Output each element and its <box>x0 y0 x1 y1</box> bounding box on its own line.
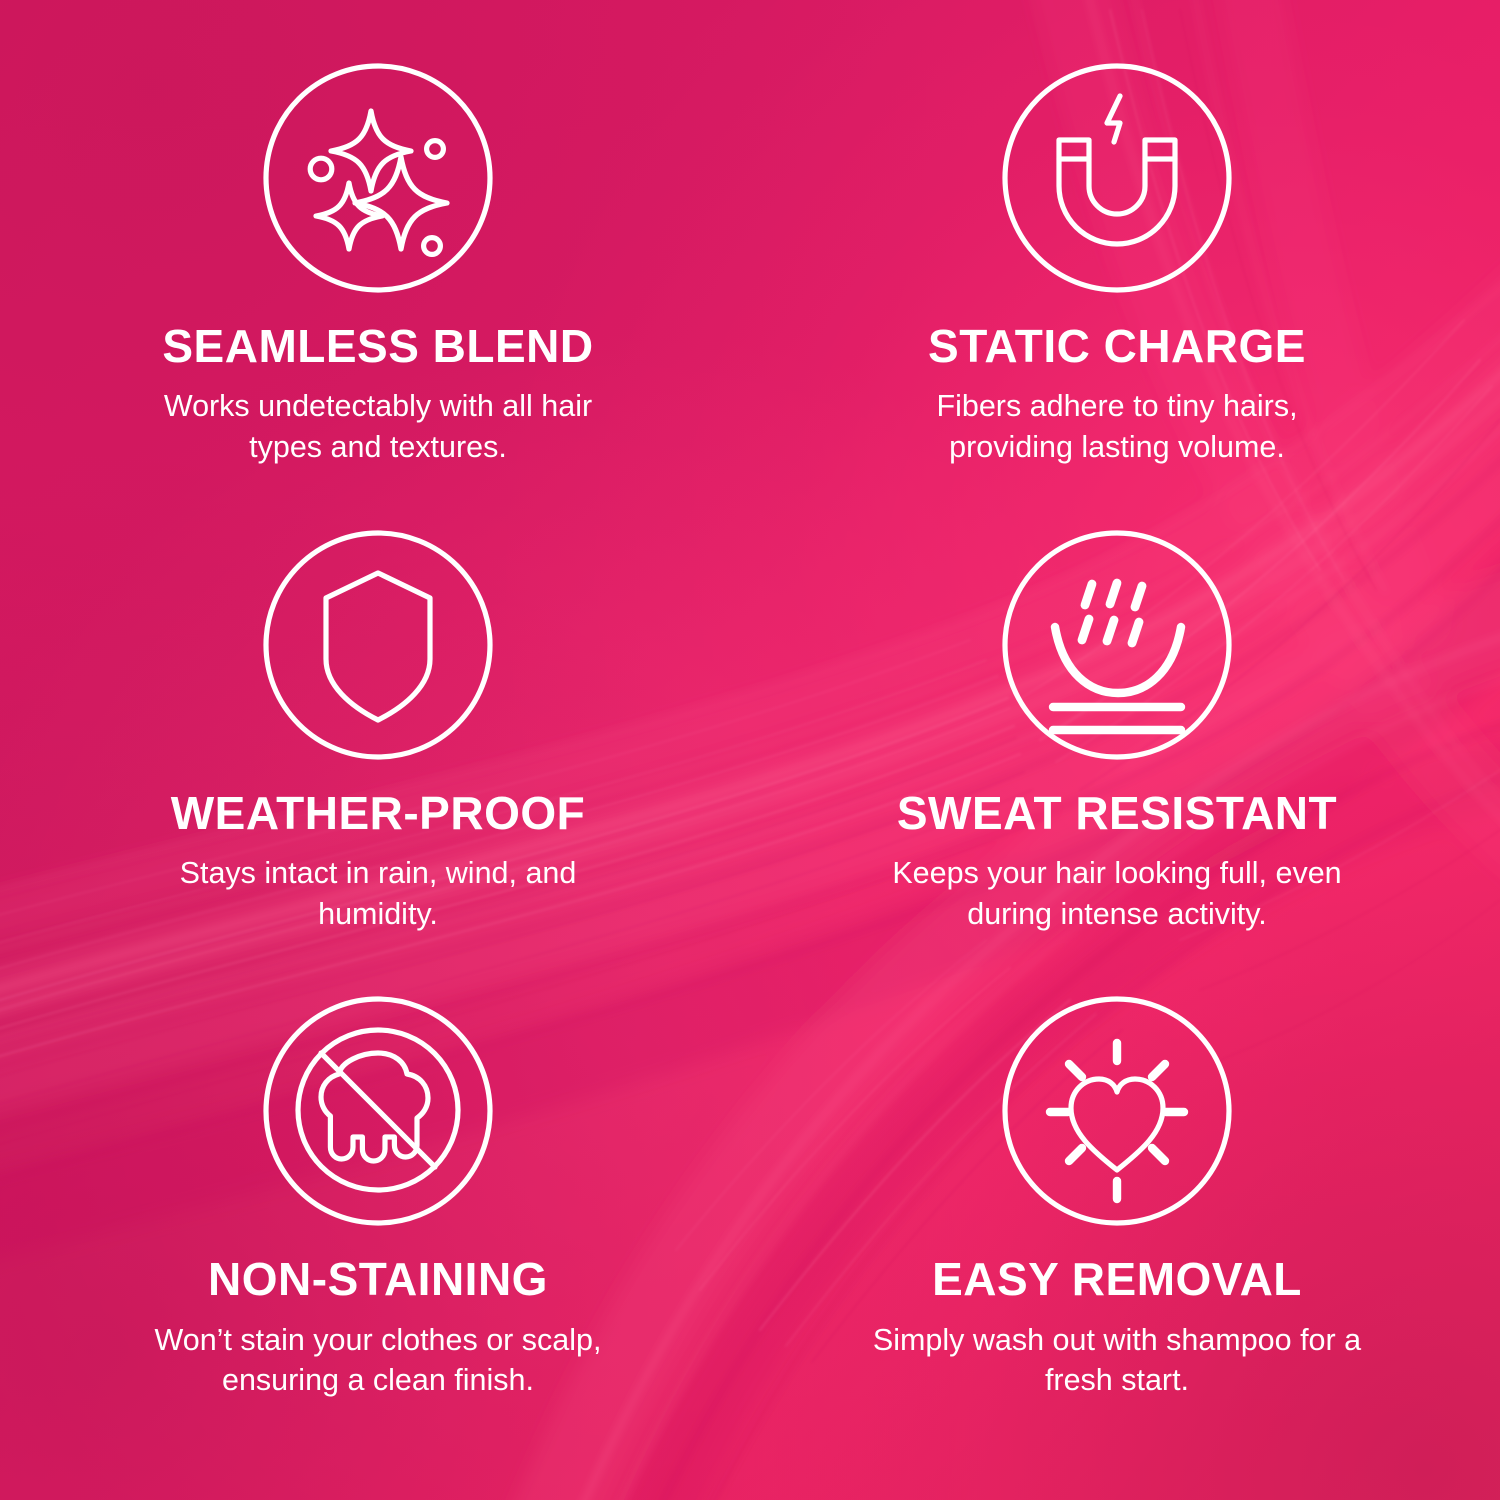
feature-card-sweat-resistant: SWEAT RESISTANT Keeps your hair looking … <box>750 527 1460 994</box>
no-stain-icon <box>260 993 496 1229</box>
feature-title: SWEAT RESISTANT <box>897 789 1337 837</box>
feature-title: WEATHER-PROOF <box>171 789 586 837</box>
feature-description: Stays intact in rain, wind, and humidity… <box>128 853 628 935</box>
feature-title: STATIC CHARGE <box>928 322 1306 370</box>
magnet-static-icon <box>999 60 1235 296</box>
feature-title: NON-STAINING <box>208 1255 548 1303</box>
shield-icon <box>260 527 496 763</box>
feature-card-weather-proof: WEATHER-PROOF Stays intact in rain, wind… <box>40 527 750 994</box>
feature-description: Works undetectably with all hair types a… <box>143 386 613 468</box>
feature-description: Keeps your hair looking full, even durin… <box>867 853 1367 935</box>
features-grid: SEAMLESS BLEND Works undetectably with a… <box>0 0 1500 1500</box>
feature-description: Won’t stain your clothes or scalp, ensur… <box>128 1320 628 1402</box>
feature-card-static-charge: STATIC CHARGE Fibers adhere to tiny hair… <box>750 60 1460 527</box>
shining-heart-icon <box>999 993 1235 1229</box>
feature-card-seamless-blend: SEAMLESS BLEND Works undetectably with a… <box>40 60 750 527</box>
feature-card-non-staining: NON-STAINING Won’t stain your clothes or… <box>40 993 750 1460</box>
feature-card-easy-removal: EASY REMOVAL Simply wash out with shampo… <box>750 993 1460 1460</box>
moisture-wicking-icon <box>999 527 1235 763</box>
feature-description: Fibers adhere to tiny hairs, providing l… <box>882 386 1352 468</box>
feature-title: EASY REMOVAL <box>932 1255 1302 1303</box>
feature-description: Simply wash out with shampoo for a fresh… <box>867 1320 1367 1402</box>
feature-title: SEAMLESS BLEND <box>162 322 593 370</box>
sparkles-icon <box>260 60 496 296</box>
